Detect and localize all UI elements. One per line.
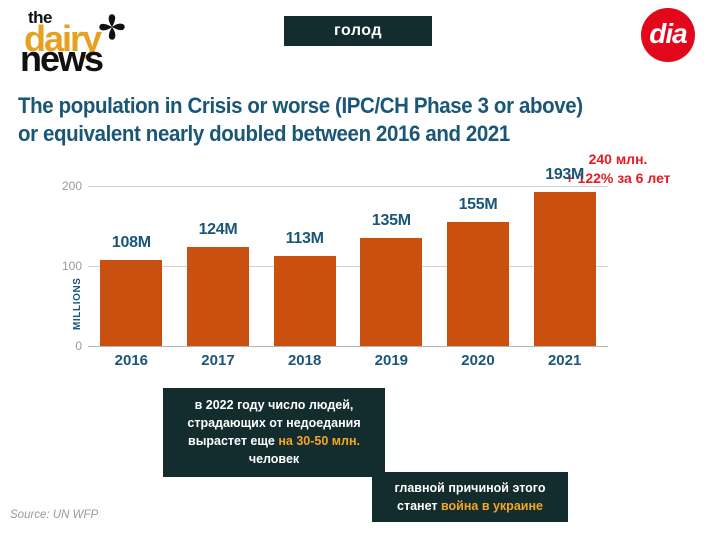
y-tick-label-200: 200: [62, 179, 82, 193]
x-tick-label-2017: 2017: [175, 352, 262, 369]
source-note: Source: UN WFP: [10, 509, 98, 521]
logo-news-text: news: [20, 41, 102, 77]
bar-2019[interactable]: [360, 238, 422, 346]
infographic-canvas: the dairy news голод dia The population …: [0, 0, 713, 535]
bar-chart: 0100200 108M2016124M2017113M2018135M2019…: [88, 186, 608, 366]
bar-group-2020: 155M2020: [435, 186, 522, 346]
callout-main-cause-text: главной причиной этого станет война в ук…: [395, 481, 546, 513]
bar-value-label-2017: 124M: [175, 221, 262, 239]
bar-group-2018: 113M2018: [261, 186, 348, 346]
dairy-news-logo[interactable]: the dairy news: [10, 8, 140, 66]
callout-2022-text: в 2022 году число людей, страдающих от н…: [187, 398, 360, 466]
callout-2022-highlight-1: на 30-50 млн.: [278, 434, 360, 448]
y-tick-label-0: 0: [75, 339, 82, 353]
bar-group-2021: 193M2021: [521, 186, 608, 346]
bar-2021[interactable]: [534, 192, 596, 346]
x-tick-label-2020: 2020: [435, 352, 522, 369]
bar-group-2019: 135M2019: [348, 186, 435, 346]
bar-value-label-2021: 193M: [521, 166, 608, 184]
page-title-line-2: or equivalent nearly doubled between 201…: [18, 120, 632, 148]
topic-tag-badge[interactable]: голод: [284, 16, 432, 46]
bar-value-label-2019: 135M: [348, 212, 435, 230]
bar-value-label-2018: 113M: [261, 230, 348, 248]
chart-bars: 108M2016124M2017113M2018135M2019155M2020…: [88, 186, 608, 346]
page-title-line-1: The population in Crisis or worse (IPC/C…: [18, 92, 632, 120]
dia-logo-text: dia: [649, 20, 686, 48]
bar-group-2016: 108M2016: [88, 186, 175, 346]
callout-2022-projection: в 2022 году число людей, страдающих от н…: [163, 388, 385, 477]
x-tick-label-2018: 2018: [261, 352, 348, 369]
x-tick-label-2019: 2019: [348, 352, 435, 369]
y-tick-label-100: 100: [62, 259, 82, 273]
x-tick-label-2016: 2016: [88, 352, 175, 369]
bar-2020[interactable]: [447, 222, 509, 346]
bar-2017[interactable]: [187, 247, 249, 346]
bar-value-label-2016: 108M: [88, 234, 175, 252]
bar-value-label-2020: 155M: [435, 196, 522, 214]
topic-tag-label: голод: [334, 22, 382, 40]
bar-2016[interactable]: [100, 260, 162, 346]
gridline-0: [88, 346, 608, 347]
callout-cause-highlight-1: война в украине: [441, 499, 543, 513]
bar-group-2017: 124M2017: [175, 186, 262, 346]
callout-main-cause: главной причиной этого станет война в ук…: [372, 472, 568, 522]
callout-2022-part-2: человек: [249, 452, 299, 466]
dia-logo[interactable]: dia: [641, 8, 695, 62]
clover-icon: [95, 10, 129, 44]
x-tick-label-2021: 2021: [521, 352, 608, 369]
bar-2018[interactable]: [274, 256, 336, 346]
page-title: The population in Crisis or worse (IPC/C…: [18, 92, 632, 147]
